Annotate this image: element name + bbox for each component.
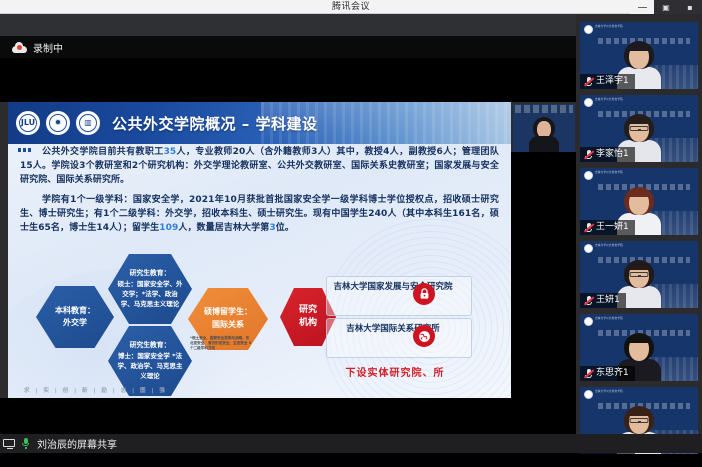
- recording-label: 录制中: [33, 40, 63, 55]
- participant-name-chip: 李家怡1: [580, 147, 635, 162]
- tile-logo-text: 吉林大学公共外交学院: [595, 171, 623, 174]
- floating-video-banner: [515, 105, 573, 113]
- entity-institutes-label: 下设实体研究院、所: [300, 364, 490, 379]
- participant-tile[interactable]: 吉林大学公共外交学院王妍1: [580, 241, 698, 308]
- glasses-icon: [630, 272, 649, 277]
- share-gap: [0, 58, 576, 102]
- university-logo-2: ✹: [46, 111, 70, 135]
- hex-master-title: 研究生教育：: [130, 268, 171, 278]
- floating-presenter-video[interactable]: [513, 104, 575, 152]
- tile-university-logo: [584, 244, 593, 253]
- share-toolbar-area: [0, 14, 576, 36]
- slide-paragraph-1: 公共外交学院目前共有教职工35人，专业教师20人（含外籍教师3人）其中，教授4人…: [8, 146, 511, 188]
- discipline-diagram: 本科教育： 外交学 研究生教育： 硕士：国家安全学、外交学；*法学、政治学、马克…: [8, 252, 511, 398]
- institute-label-1: 吉林大学国家发展与安全研究院: [333, 281, 453, 294]
- participant-name: 李家怡1: [596, 147, 629, 162]
- participant-name-chip: 王泽宇1: [580, 74, 635, 89]
- slide-footer-motto: 求 | 实 | 创 | 新 | 励 | 志 | 图 | 强: [24, 386, 167, 394]
- participant-tile[interactable]: 吉林大学公共外交学院李家怡1: [580, 95, 698, 162]
- hex-international-line2: 国际关系: [212, 319, 244, 332]
- hex-undergraduate: 本科教育： 外交学: [36, 286, 114, 348]
- globe-icon: [413, 325, 435, 347]
- mic-muted-icon: [584, 222, 593, 233]
- hex-master: 研究生教育： 硕士：国家安全学、外交学；*法学、政治学、马克思主义理论: [108, 254, 192, 324]
- participant-video-strip[interactable]: 吉林大学公共外交学院王泽宇1吉林大学公共外交学院李家怡1吉林大学公共外交学院王一…: [576, 14, 702, 448]
- floating-video-person: [533, 117, 555, 152]
- hex-research-line1: 研究: [299, 304, 317, 318]
- meeting-window: 录制中 JLU ✹ ▥ 公共外交学院概况 – 学科建设 公共外交学院目前共有教职…: [0, 14, 702, 467]
- tile-university-logo: [584, 98, 593, 107]
- lock-icon: [413, 283, 435, 305]
- window-title: 腾讯会议: [332, 0, 370, 14]
- tile-university-logo: [584, 317, 593, 326]
- participant-name: 东思齐1: [596, 366, 629, 381]
- university-logo-1: JLU: [16, 111, 40, 135]
- tile-logo-text: 吉林大学公共外交学院: [595, 25, 623, 28]
- window-titlebar: 腾讯会议 ▣ ▪: [0, 0, 702, 14]
- tile-university-logo: [584, 171, 593, 180]
- slide-body-text: 公共外交学院目前共有教职工35人，专业教师20人（含外籍教师3人）其中，教授4人…: [8, 146, 511, 236]
- screen-share-icon: [3, 438, 16, 450]
- hex-phd-title: 研究生教育：: [130, 340, 171, 350]
- minimize-button[interactable]: [630, 0, 654, 14]
- mic-on-icon: [20, 438, 33, 450]
- participant-name-chip: 王一妍1: [580, 220, 635, 235]
- participant-tile[interactable]: 吉林大学公共外交学院东思齐1: [580, 314, 698, 381]
- tile-logo-text: 吉林大学公共外交学院: [595, 244, 623, 247]
- mic-muted-icon: [584, 76, 593, 87]
- bottom-status-bar: 刘治辰的屏幕共享: [0, 434, 702, 453]
- bullet-mark-icon: [18, 148, 32, 152]
- presentation-slide: JLU ✹ ▥ 公共外交学院概况 – 学科建设 公共外交学院目前共有教职工35人…: [8, 102, 511, 398]
- slide-paragraph-2: 学院有1个一级学科：国家安全学，2021年10月获批首批国家安全学一级学科博士学…: [8, 194, 511, 236]
- mic-muted-icon: [584, 368, 593, 379]
- slide-header: JLU ✹ ▥ 公共外交学院概况 – 学科建设: [8, 102, 511, 144]
- hex-research-line2: 机构: [299, 317, 317, 331]
- participant-name: 王妍1: [596, 293, 620, 308]
- glasses-icon: [630, 126, 649, 131]
- maximize-button[interactable]: ▣: [654, 0, 678, 14]
- tile-logo-text: 吉林大学公共外交学院: [595, 317, 623, 320]
- participant-name-chip: 王妍1: [580, 293, 626, 308]
- share-status-text: 刘治辰的屏幕共享: [37, 436, 117, 451]
- cloud-record-icon: [12, 42, 27, 53]
- participant-name-chip: 东思齐1: [580, 366, 635, 381]
- participant-tile[interactable]: 吉林大学公共外交学院王泽宇1: [580, 22, 698, 89]
- close-button[interactable]: ▪: [678, 0, 702, 14]
- participant-tile[interactable]: 吉林大学公共外交学院王一妍1: [580, 168, 698, 235]
- mic-muted-icon: [584, 149, 593, 160]
- share-empty-right: [511, 152, 576, 398]
- university-logo-3: ▥: [76, 111, 100, 135]
- institute-label-2: 吉林大学国际关系研究所: [333, 323, 453, 336]
- shared-screen-pane: 录制中 JLU ✹ ▥ 公共外交学院概况 – 学科建设 公共外交学院目前共有教职…: [0, 14, 576, 448]
- glasses-icon: [630, 418, 649, 423]
- hex-undergraduate-line1: 本科教育：: [55, 305, 95, 317]
- participant-name: 王一妍1: [596, 220, 629, 235]
- tile-logo-text: 吉林大学公共外交学院: [595, 98, 623, 101]
- tile-university-logo: [584, 390, 593, 399]
- window-controls: ▣ ▪: [630, 0, 702, 14]
- tile-logo-text: 吉林大学公共外交学院: [595, 390, 623, 393]
- mic-muted-icon: [584, 295, 593, 306]
- discipline-footnote: *领土安全、国家安全思想与战略、东北亚安全、意识形态安全、生态安全 5个二级学科…: [190, 336, 252, 352]
- hex-phd-body: 博士：国家安全学 *法学、政治学、马克思主义理论: [117, 352, 183, 381]
- participant-name: 王泽宇1: [596, 74, 629, 89]
- slide-title: 公共外交学院概况 – 学科建设: [112, 113, 317, 134]
- hex-master-body: 硕士：国家安全学、外交学；*法学、政治学、马克思主义理论: [117, 280, 183, 309]
- hex-international-line1: 硕博留学生：: [204, 306, 252, 319]
- recording-indicator: 录制中: [0, 36, 576, 58]
- hex-undergraduate-line2: 外交学: [63, 317, 87, 329]
- tile-university-logo: [584, 25, 593, 34]
